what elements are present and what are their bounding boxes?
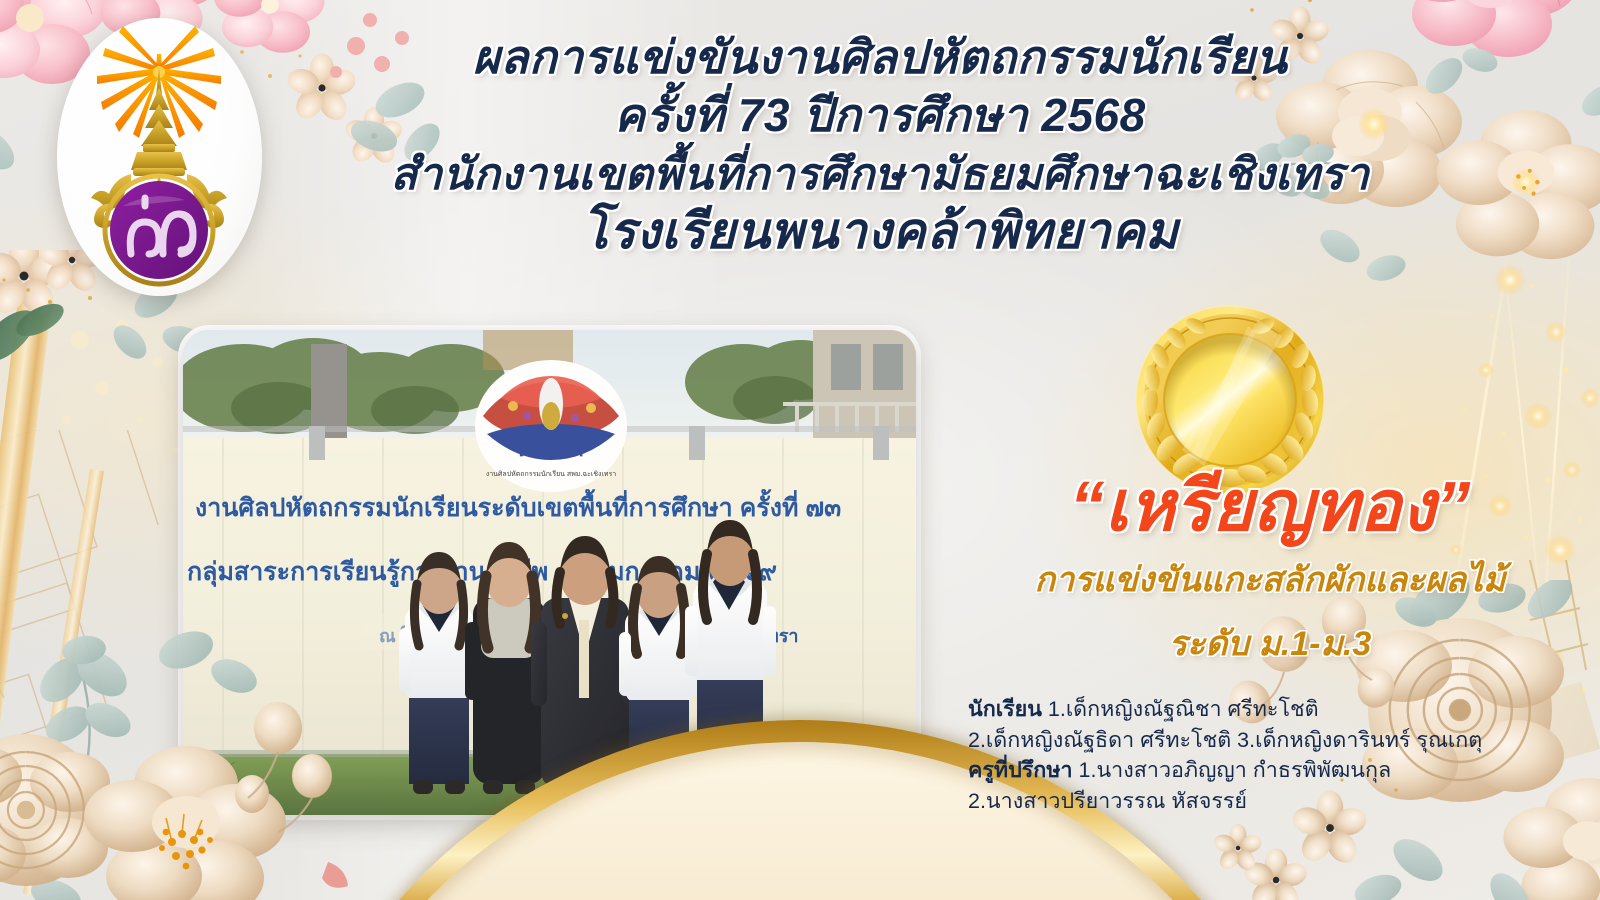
gold-ribbon-left-thin — [23, 469, 104, 896]
medal-label: “เหรียญทอง” — [950, 470, 1590, 544]
teachers-label: ครูที่ปรึกษา — [968, 758, 1073, 782]
teachers-row-2: 2.นางสาวปรียาวรรณ หัสจรรย์ — [968, 786, 1588, 817]
title-line-3: สำนักงานเขตพื้นที่การศึกษามัธยมศึกษาฉะเช… — [380, 149, 1380, 201]
competition-category: การแข่งขันแกะสลักผักและผลไม้ — [950, 552, 1590, 606]
students-row-1: นักเรียน 1.เด็กหญิงณัฐณิชา ศรีทะโชติ — [968, 694, 1588, 725]
poster-canvas: ดวปกา งานศิลปหัตถกรรมนักเรียน สพม.ฉะเชิง… — [0, 0, 1600, 900]
competition-level: ระดับ ม.1-ม.3 — [950, 616, 1590, 670]
thai-royal-education-emblem: ปชว — [57, 18, 262, 296]
title-line-4: โรงเรียนพนางคล้าพิทยาคม — [380, 202, 1380, 261]
credits-block: นักเรียน 1.เด็กหญิงณัฐณิชา ศรีทะโชติ 2.เ… — [968, 694, 1588, 817]
students-line-1: 1.เด็กหญิงณัฐณิชา ศรีทะโชติ — [1048, 697, 1319, 721]
teachers-line-1: 1.นางสาวอภิญญา กำธรพิพัฒนกุล — [1079, 758, 1392, 782]
title-line-1: ผลการแข่งขันงานศิลปหัตถกรรมนักเรียน — [380, 30, 1380, 84]
title-line-2: ครั้งที่ 73 ปีการศึกษา 2568 — [380, 88, 1380, 142]
gold-ribbon-left — [0, 298, 52, 900]
team-group-photo: ดวปกา งานศิลปหัตถกรรมนักเรียน สพม.ฉะเชิง… — [183, 330, 916, 815]
students-label: นักเรียน — [968, 697, 1042, 721]
page-title: ผลการแข่งขันงานศิลปหัตถกรรมนักเรียน ครั้… — [380, 30, 1380, 261]
students-row-2: 2.เด็กหญิงณัฐธิดา ศรีทะโชติ 3.เด็กหญิงดา… — [968, 725, 1588, 756]
teachers-row-1: ครูที่ปรึกษา 1.นางสาวอภิญญา กำธรพิพัฒนกุ… — [968, 755, 1588, 786]
group-photo-illustration: ดวปกา งานศิลปหัตถกรรมนักเรียน สพม.ฉะเชิง… — [183, 330, 916, 815]
award-block: “เหรียญทอง” การแข่งขันแกะสลักผักและผลไม้… — [950, 470, 1590, 670]
